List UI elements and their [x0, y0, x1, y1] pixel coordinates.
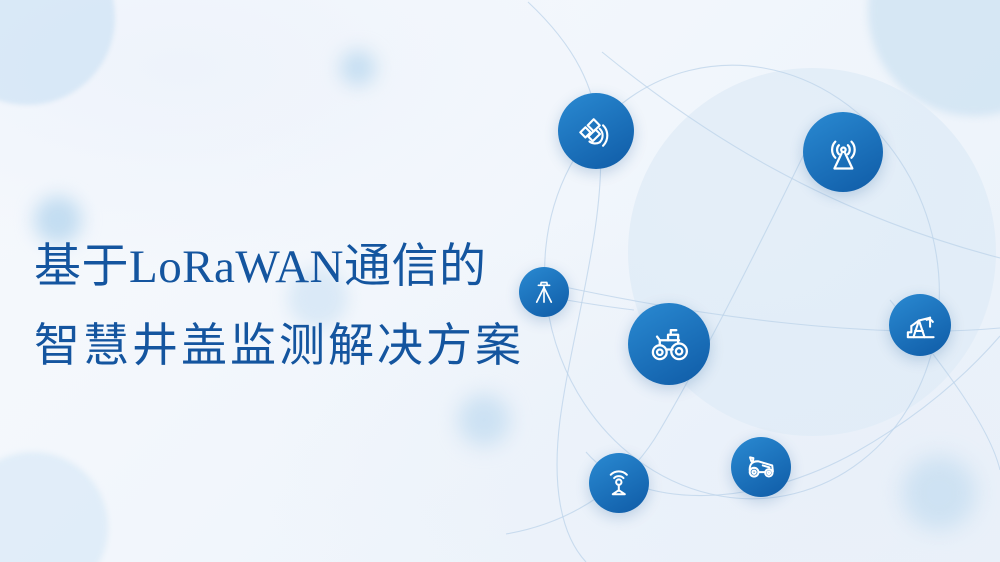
radio-tower-icon [821, 130, 866, 175]
background-blob [0, 452, 108, 562]
title-block: 基于LoRaWAN通信的 智慧井盖监测解决方案 [34, 228, 524, 384]
survey-tripod-icon [530, 278, 558, 306]
oil-pumpjack-icon [903, 308, 938, 343]
node-survey-tripod[interactable] [519, 267, 569, 317]
node-radio-tower[interactable] [803, 112, 883, 192]
page-title-line-1: 基于LoRaWAN通信的 [34, 228, 524, 306]
node-satellite[interactable] [558, 93, 634, 169]
page-title-line-2: 智慧井盖监测解决方案 [34, 306, 524, 384]
orbit-curve-sweep-right [602, 52, 1000, 258]
background-blob [902, 456, 976, 530]
background-blob [0, 0, 115, 105]
tractor-icon [646, 321, 692, 367]
harvester-icon [744, 450, 778, 484]
node-wireless-sensor[interactable] [589, 453, 649, 513]
background-blob [458, 394, 510, 446]
background-blob [340, 50, 376, 86]
satellite-icon [575, 110, 618, 153]
node-harvester[interactable] [731, 437, 791, 497]
background-blob [868, 0, 1000, 116]
node-oil-pumpjack[interactable] [889, 294, 951, 356]
slide-canvas: 基于LoRaWAN通信的 智慧井盖监测解决方案 [0, 0, 1000, 562]
node-tractor[interactable] [628, 303, 710, 385]
wireless-sensor-icon [602, 466, 636, 500]
